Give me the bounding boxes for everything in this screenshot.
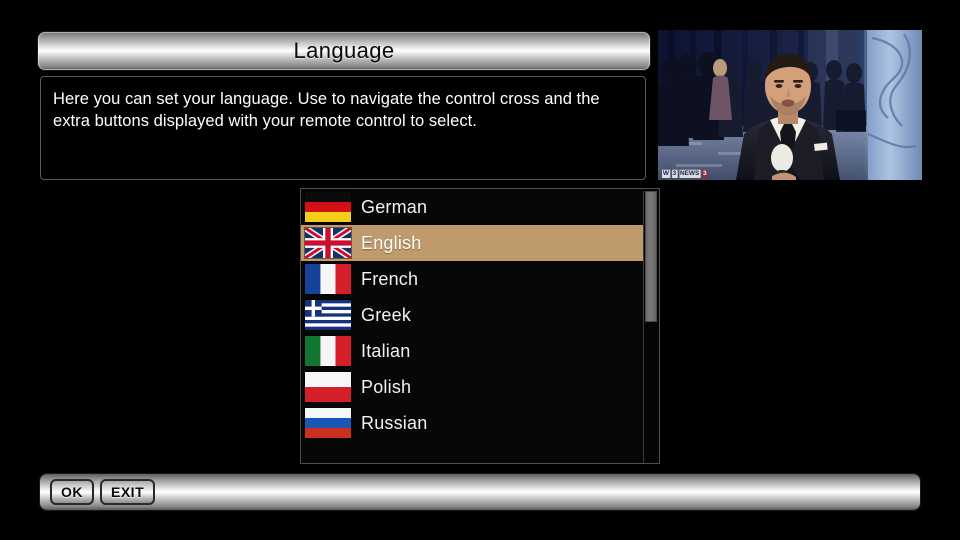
scrollbar-track[interactable] <box>643 191 657 463</box>
exit-button[interactable]: EXIT <box>100 479 155 505</box>
language-list-panel[interactable]: German English <box>300 188 660 464</box>
page-title: Language <box>293 38 394 64</box>
flag-gb-icon <box>305 228 351 258</box>
page-title-bar: Language <box>38 32 650 70</box>
flag-fr-icon <box>305 264 351 294</box>
chyron-block-3: NEWS <box>679 170 700 178</box>
list-item-polish[interactable]: Polish <box>301 369 643 405</box>
list-item-label: Italian <box>361 341 410 362</box>
language-list-rows: German English <box>301 189 643 441</box>
bottom-button-bar: OK EXIT <box>40 474 920 510</box>
list-item-label: English <box>361 233 421 254</box>
help-description-box: Here you can set your language. Use to n… <box>40 76 646 180</box>
help-description-text: Here you can set your language. Use to n… <box>53 89 631 133</box>
list-item-label: German <box>361 197 427 218</box>
list-item-label: Russian <box>361 413 427 434</box>
ok-button[interactable]: OK <box>50 479 94 505</box>
flag-ru-icon <box>305 408 351 438</box>
chyron-block-1: W <box>662 170 670 178</box>
flag-gr-icon <box>305 300 351 330</box>
list-item-italian[interactable]: Italian <box>301 333 643 369</box>
list-item-english[interactable]: English <box>301 225 643 261</box>
flag-pl-icon <box>305 372 351 402</box>
tv-settings-screen: Language Here you can set your language.… <box>0 0 960 540</box>
video-frame-image <box>658 30 922 180</box>
list-item-german[interactable]: German <box>301 189 643 225</box>
chyron-block-2: 3 <box>672 170 677 178</box>
flag-de-icon <box>305 192 351 222</box>
news-chyron-logo: W 3 NEWS 3 <box>662 170 707 178</box>
list-item-label: French <box>361 269 418 290</box>
exit-button-label: EXIT <box>111 484 144 500</box>
list-item-greek[interactable]: Greek <box>301 297 643 333</box>
list-item-russian[interactable]: Russian <box>301 405 643 441</box>
ok-button-label: OK <box>61 484 83 500</box>
video-preview[interactable]: W 3 NEWS 3 <box>658 30 922 180</box>
chyron-block-4: 3 <box>702 170 707 178</box>
list-item-label: Greek <box>361 305 411 326</box>
flag-it-icon <box>305 336 351 366</box>
scrollbar-thumb[interactable] <box>645 191 657 322</box>
list-item-french[interactable]: French <box>301 261 643 297</box>
list-item-label: Polish <box>361 377 411 398</box>
